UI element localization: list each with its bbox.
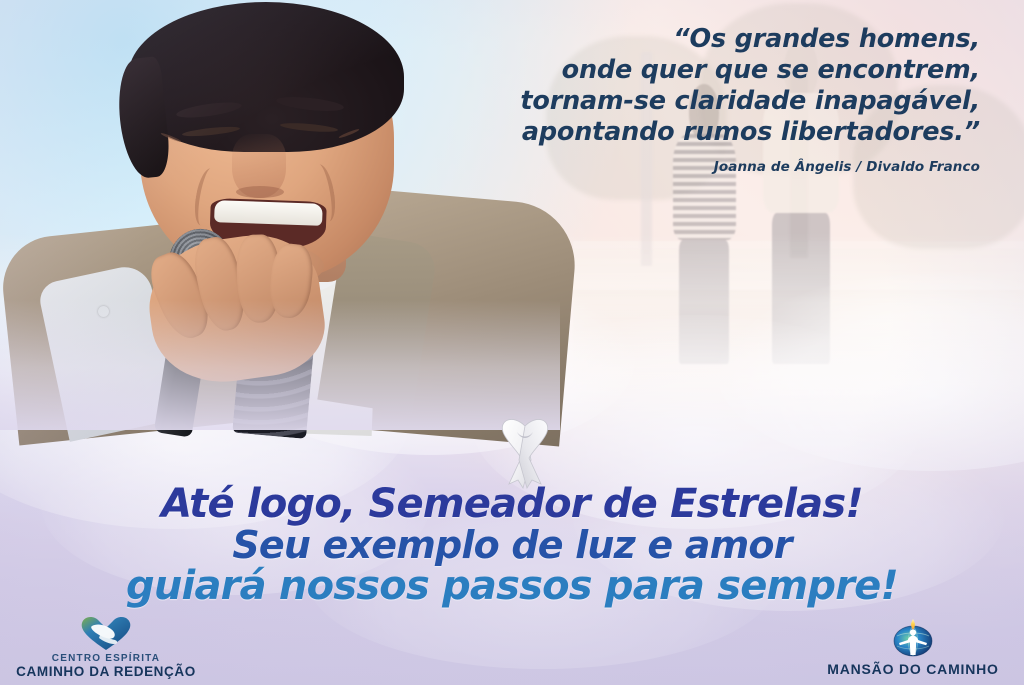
- mourning-ribbon-icon: [487, 410, 563, 490]
- headline-line-1: Até logo, Semeador de Estrelas!: [0, 484, 1024, 525]
- headline-line-2: Seu exemplo de luz e amor: [0, 526, 1024, 565]
- logo-left-line-1: CENTRO ESPÍRITA: [6, 653, 206, 664]
- quote-line-3: tornam-se claridade inapagável,: [440, 86, 980, 117]
- quote-block: “Os grandes homens, onde quer que se enc…: [440, 24, 980, 175]
- headline-block: Até logo, Semeador de Estrelas! Seu exem…: [0, 484, 1024, 606]
- logo-centro-espirita: CENTRO ESPÍRITA CAMINHO DA REDENÇÃO: [6, 614, 206, 679]
- heart-hands-icon: [78, 614, 134, 652]
- logo-right-line-1: MANSÃO DO CAMINHO: [808, 661, 1018, 677]
- globe-figure-flame-icon: [889, 617, 937, 659]
- quote-line-4: apontando rumos libertadores.”: [440, 117, 980, 148]
- logo-left-line-2: CAMINHO DA REDENÇÃO: [6, 664, 206, 679]
- memorial-poster: “Os grandes homens, onde quer que se enc…: [0, 0, 1024, 685]
- logo-mansao-do-caminho: MANSÃO DO CAMINHO: [808, 617, 1018, 677]
- quote-line-1: “Os grandes homens,: [440, 24, 980, 55]
- headline-line-3: guiará nossos passos para sempre!: [0, 566, 1024, 607]
- quote-credit: Joanna de Ângelis / Divaldo Franco: [440, 159, 980, 175]
- quote-line-2: onde quer que se encontrem,: [440, 55, 980, 86]
